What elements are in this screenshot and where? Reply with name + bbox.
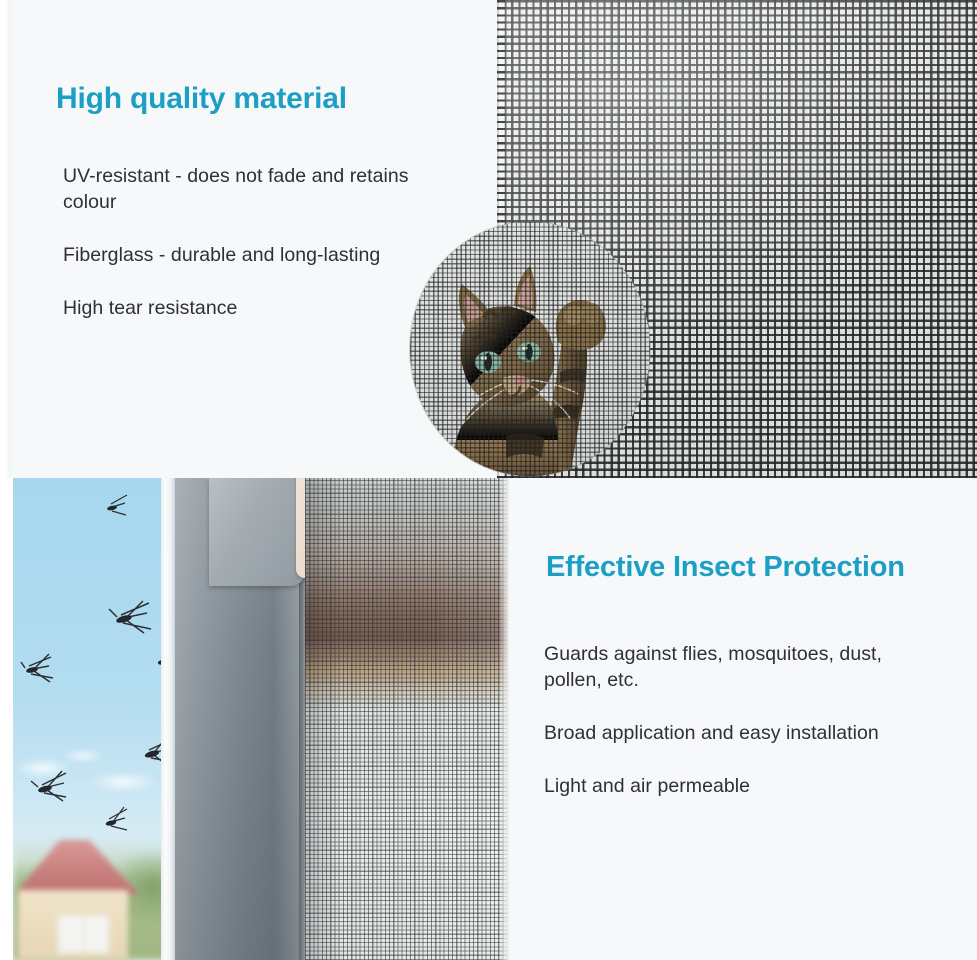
- list-item: Guards against flies, mosquitoes, dust, …: [544, 641, 894, 693]
- mosquito-icon: [99, 801, 137, 837]
- list-item: High tear resistance: [63, 295, 463, 321]
- mosquito-icon: [105, 593, 161, 641]
- background-house: [13, 840, 139, 960]
- feature-list-material: UV-resistant - does not fade and retains…: [63, 163, 463, 348]
- feature-list-protection: Guards against flies, mosquitoes, dust, …: [544, 641, 964, 826]
- list-item: Broad application and easy installation: [544, 720, 964, 746]
- installed-insect-screen: [305, 478, 509, 960]
- screen-shading: [305, 478, 509, 960]
- page-title-high-quality-material: High quality material: [56, 82, 347, 116]
- house-window: [57, 914, 110, 954]
- mesh-overlay: [410, 222, 650, 476]
- list-item: UV-resistant - does not fade and retains…: [63, 163, 463, 215]
- house-roof: [13, 840, 139, 894]
- page-title-effective-insect-protection: Effective Insect Protection: [546, 551, 905, 584]
- screen-mounting-bracket: [209, 478, 305, 586]
- screen-edge-highlight: [499, 478, 509, 960]
- window-frame-outer-edge: [161, 478, 175, 960]
- mosquito-icon: [28, 763, 78, 807]
- mosquito-icon: [101, 488, 135, 520]
- product-feature-collage: High quality material UV-resistant - doe…: [0, 0, 977, 960]
- mosquito-icon: [19, 648, 65, 688]
- cat-behind-screen-photo: [410, 222, 650, 476]
- window-with-screen-photo: [13, 478, 509, 960]
- list-item: Light and air permeable: [544, 773, 964, 799]
- list-item: Fiberglass - durable and long-lasting: [63, 242, 463, 268]
